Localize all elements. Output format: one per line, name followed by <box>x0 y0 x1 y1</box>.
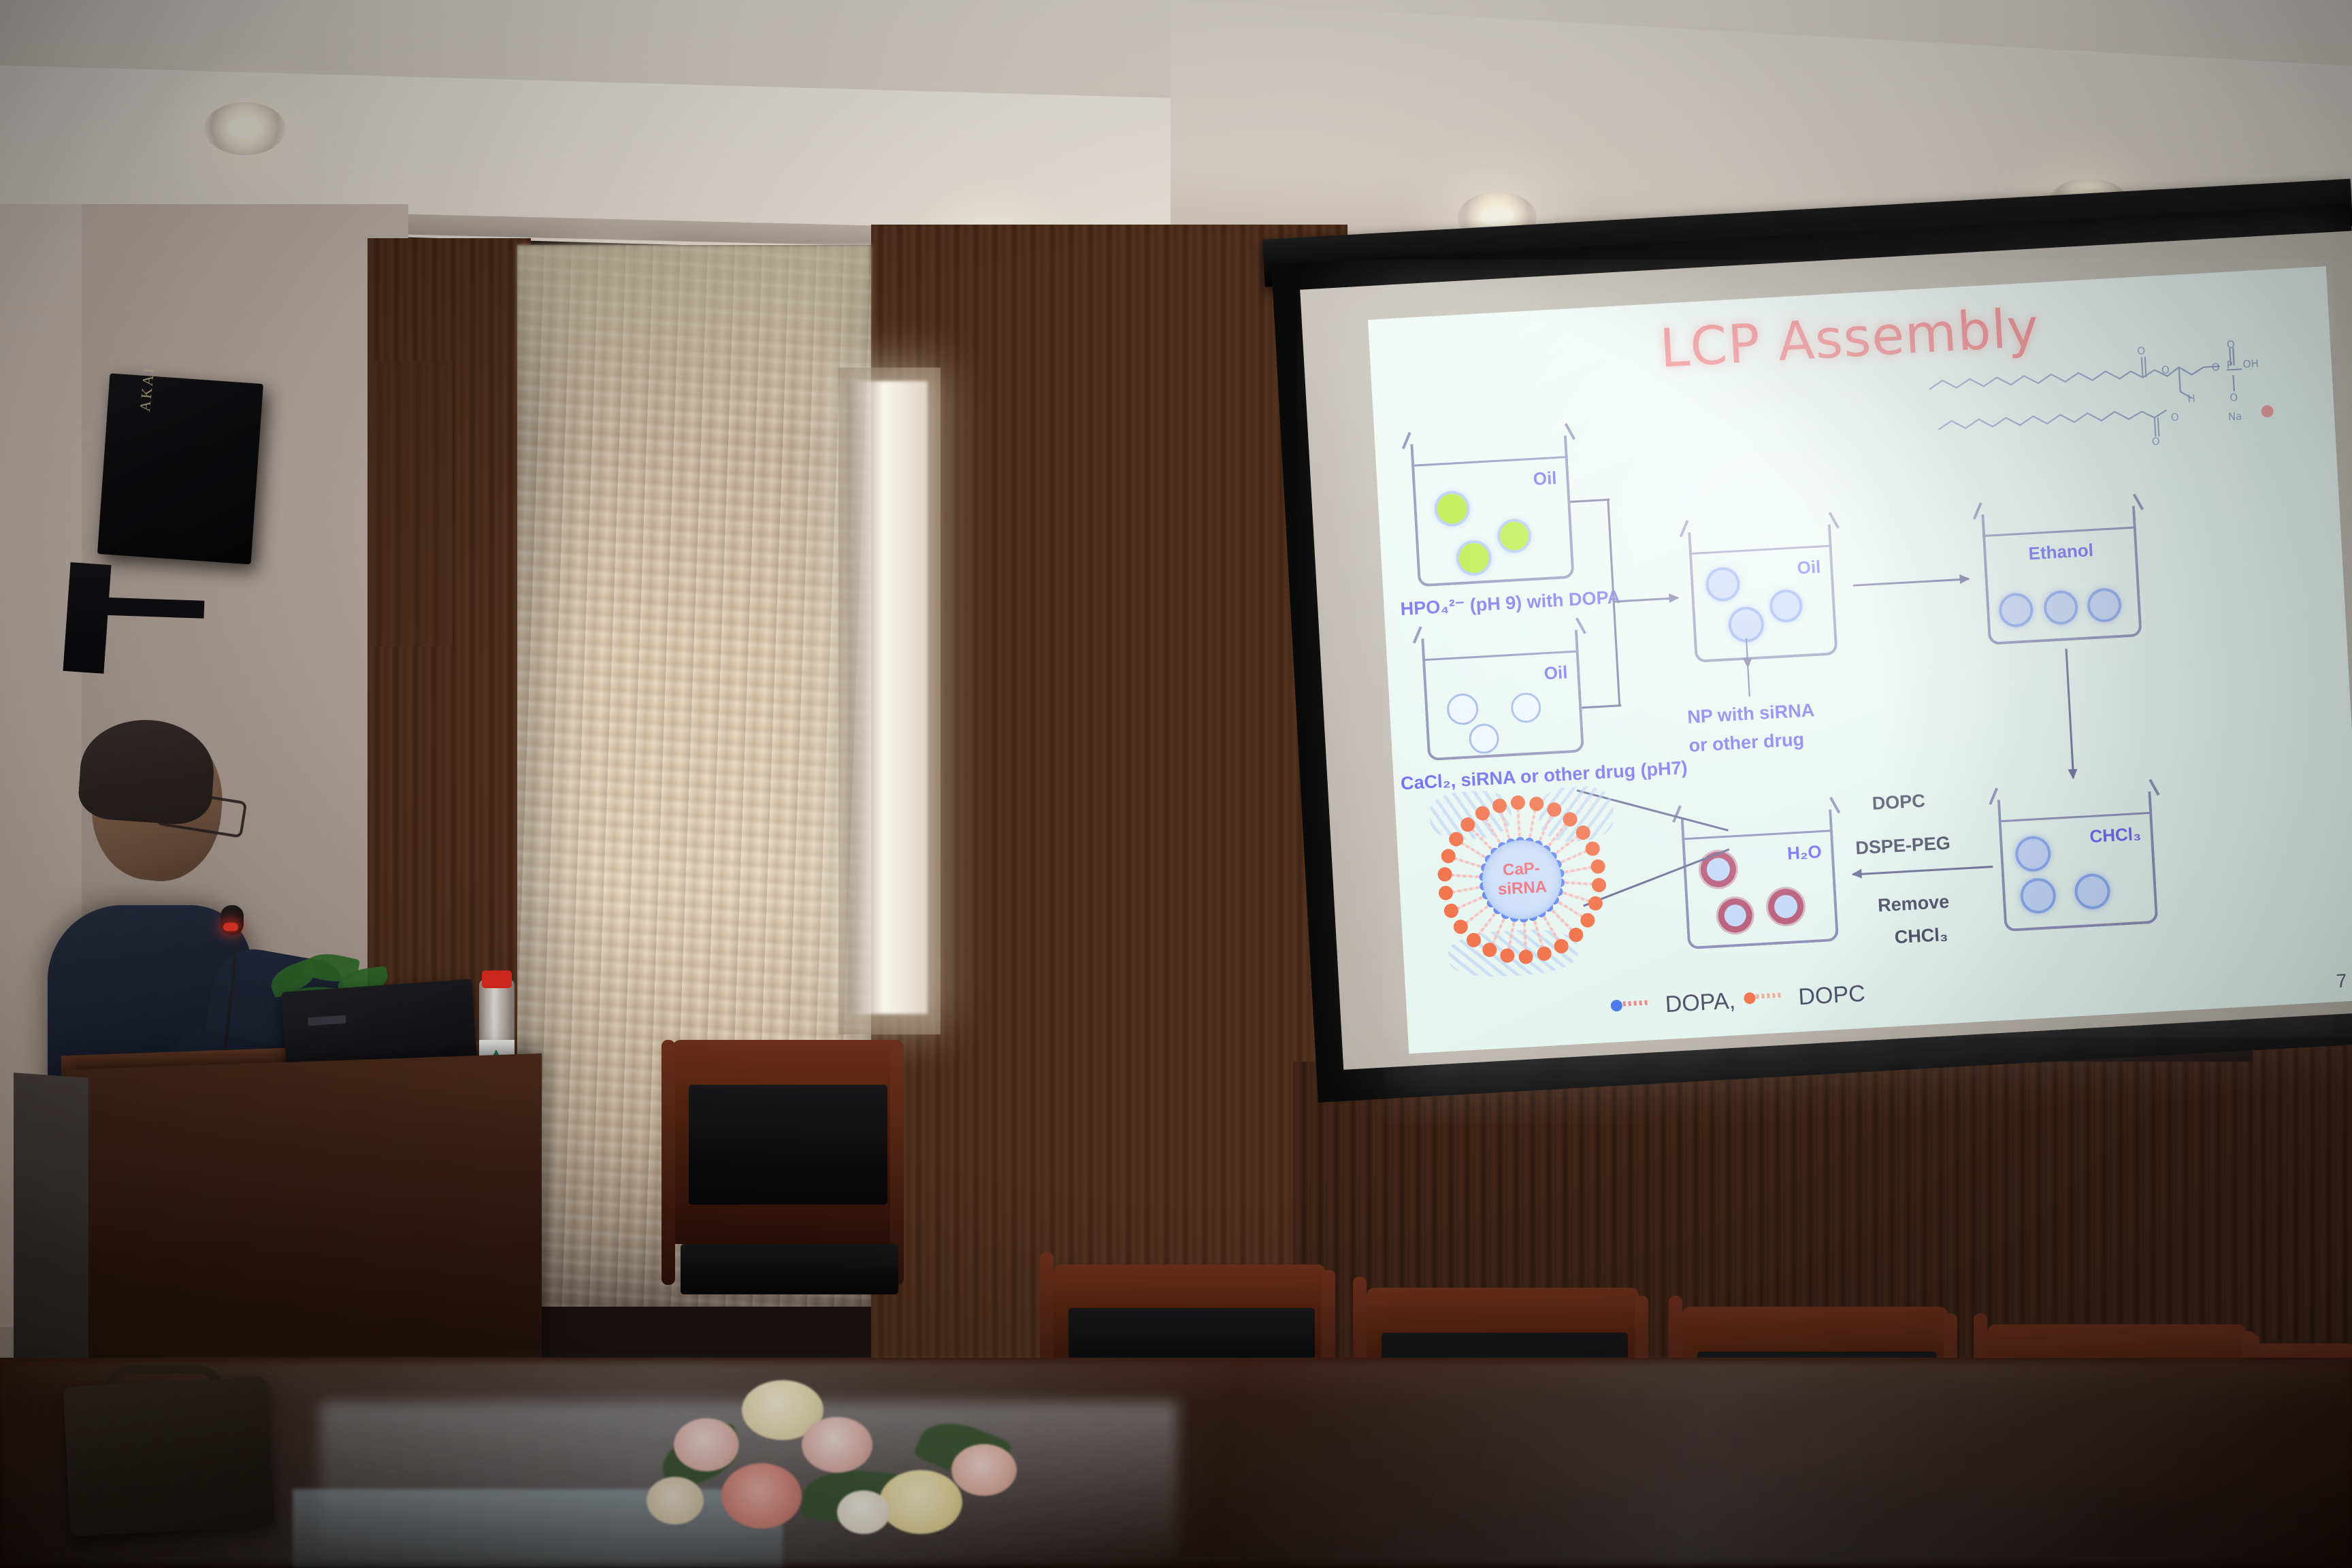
atom-H: H <box>2187 392 2195 405</box>
atom-O: O <box>2229 391 2238 404</box>
beaker-cacl2: Oil <box>1421 630 1584 762</box>
beaker-cacl2-liquid-label: Oil <box>1543 661 1568 684</box>
atom-O: O <box>2151 435 2160 448</box>
reagent-remove-line2: CHCl₃ <box>1894 924 1948 948</box>
lipid-molecule <box>1561 864 1599 876</box>
beaker-dopa: Oil <box>1410 436 1574 587</box>
chair-post <box>661 1040 675 1285</box>
reagent-remove-line1: Remove <box>1877 892 1950 917</box>
presentation-slide: LCP Assembly Oil HPO₄²⁻ (pH 9) with DOPA… <box>1368 266 2352 1053</box>
lipid-molecule <box>1522 919 1529 957</box>
speaker-wall-mount <box>63 562 111 674</box>
chair-cushion <box>689 1085 887 1205</box>
atom-Na: Na <box>2227 410 2242 423</box>
arrow-merge-to-np <box>1613 597 1678 602</box>
speaker-brand-label: AKAI <box>136 365 159 412</box>
slide-legend: DOPA, DOPC <box>1610 969 1993 1026</box>
legend-dopc-dot <box>1744 992 1756 1004</box>
legend-dopc-tail <box>1756 992 1783 998</box>
caption-np-line2: or other drug <box>1688 729 1805 756</box>
legend-dopa-tail <box>1622 1000 1650 1006</box>
cap-sirna-nanoparticle: CaP- siRNA <box>1426 783 1618 976</box>
legend-dopa-dot <box>1610 1000 1622 1012</box>
beaker-ethanol-liquid-label: Ethanol <box>2028 540 2094 564</box>
caption-dopa: HPO₄²⁻ (pH 9) with DOPA <box>1400 587 1621 620</box>
arrow-ethanol-to-chcl3 <box>2065 649 2075 778</box>
laptop-logo <box>308 1015 346 1026</box>
wood-panel-center <box>871 225 1347 1395</box>
atom-O: O <box>2137 344 2146 357</box>
flower-arrangement <box>633 1368 1068 1568</box>
conference-room-photo: AKAI LCP Assembly Oil HPO₄²⁻ (pH 9) with… <box>0 0 2352 1568</box>
wood-trim-niche <box>371 361 453 647</box>
beaker-ethanol: Ethanol <box>1981 506 2142 645</box>
atom-P: P <box>2226 359 2233 371</box>
flower-yellow <box>879 1470 962 1534</box>
core-label-line2: siRNA <box>1482 877 1562 899</box>
microphone-led-icon <box>223 923 238 931</box>
lipid-molecule <box>1561 879 1599 887</box>
lipid-molecule <box>1526 803 1539 842</box>
reagent-dspe-peg: DSPE-PEG <box>1855 832 1951 859</box>
flower-rose-pink <box>721 1463 802 1529</box>
beaker-chcl3: CHCl₃ <box>1997 791 2158 932</box>
beaker-dopa-liquid-label: Oil <box>1533 468 1557 490</box>
core-label-line1: CaP- <box>1482 858 1561 880</box>
chair-standalone <box>659 1040 917 1346</box>
window-daylight <box>847 381 928 1014</box>
curtain-highlight <box>517 245 871 436</box>
laptop-bag <box>63 1376 274 1536</box>
lipid-molecule <box>1505 918 1517 957</box>
water-bottle-cap <box>482 970 512 988</box>
flower-blush <box>802 1417 872 1473</box>
atom-OH: OH <box>2242 357 2259 370</box>
dopa-molecule-structure: O O O O O O O P OH H Na <box>1922 333 2309 476</box>
speaker-arm <box>95 597 205 619</box>
reagent-dopc: DOPC <box>1872 790 1926 814</box>
wall-speaker: AKAI <box>97 373 263 564</box>
legend-dopc-label: DOPC <box>1797 981 1865 1011</box>
flower-peach <box>951 1444 1017 1496</box>
downlight-1 <box>204 102 286 155</box>
slide-page-number: 7 <box>2336 970 2347 992</box>
atom-O: O <box>2170 411 2179 424</box>
atom-O: O <box>2211 361 2220 374</box>
flower-white <box>837 1490 890 1534</box>
flower-pink <box>674 1418 739 1471</box>
chair-seat <box>681 1244 898 1294</box>
atom-O: O <box>2227 338 2236 351</box>
beaker-np: Oil <box>1688 525 1837 663</box>
molecule-marker <box>2261 405 2274 418</box>
arrow-chcl3-to-water <box>1853 866 1993 875</box>
lipid-molecule <box>1445 884 1484 896</box>
atom-O: O <box>2161 363 2170 376</box>
arrow-np-to-ethanol <box>1853 578 1969 586</box>
legend-dopa-label: DOPA, <box>1665 987 1736 1018</box>
lipid-molecule <box>1515 802 1522 840</box>
connector-top <box>1570 499 1610 503</box>
beaker-water-liquid-label: H₂O <box>1786 841 1822 864</box>
beaker-np-liquid-label: Oil <box>1797 556 1821 578</box>
connector-bottom <box>1582 704 1621 708</box>
lipid-molecule <box>1444 872 1482 880</box>
caption-np-line1: NP with siRNA <box>1686 700 1814 728</box>
beaker-water: H₂O <box>1681 809 1839 949</box>
flower-small-cream <box>647 1477 704 1524</box>
beaker-chcl3-liquid-label: CHCl₃ <box>2089 823 2142 847</box>
